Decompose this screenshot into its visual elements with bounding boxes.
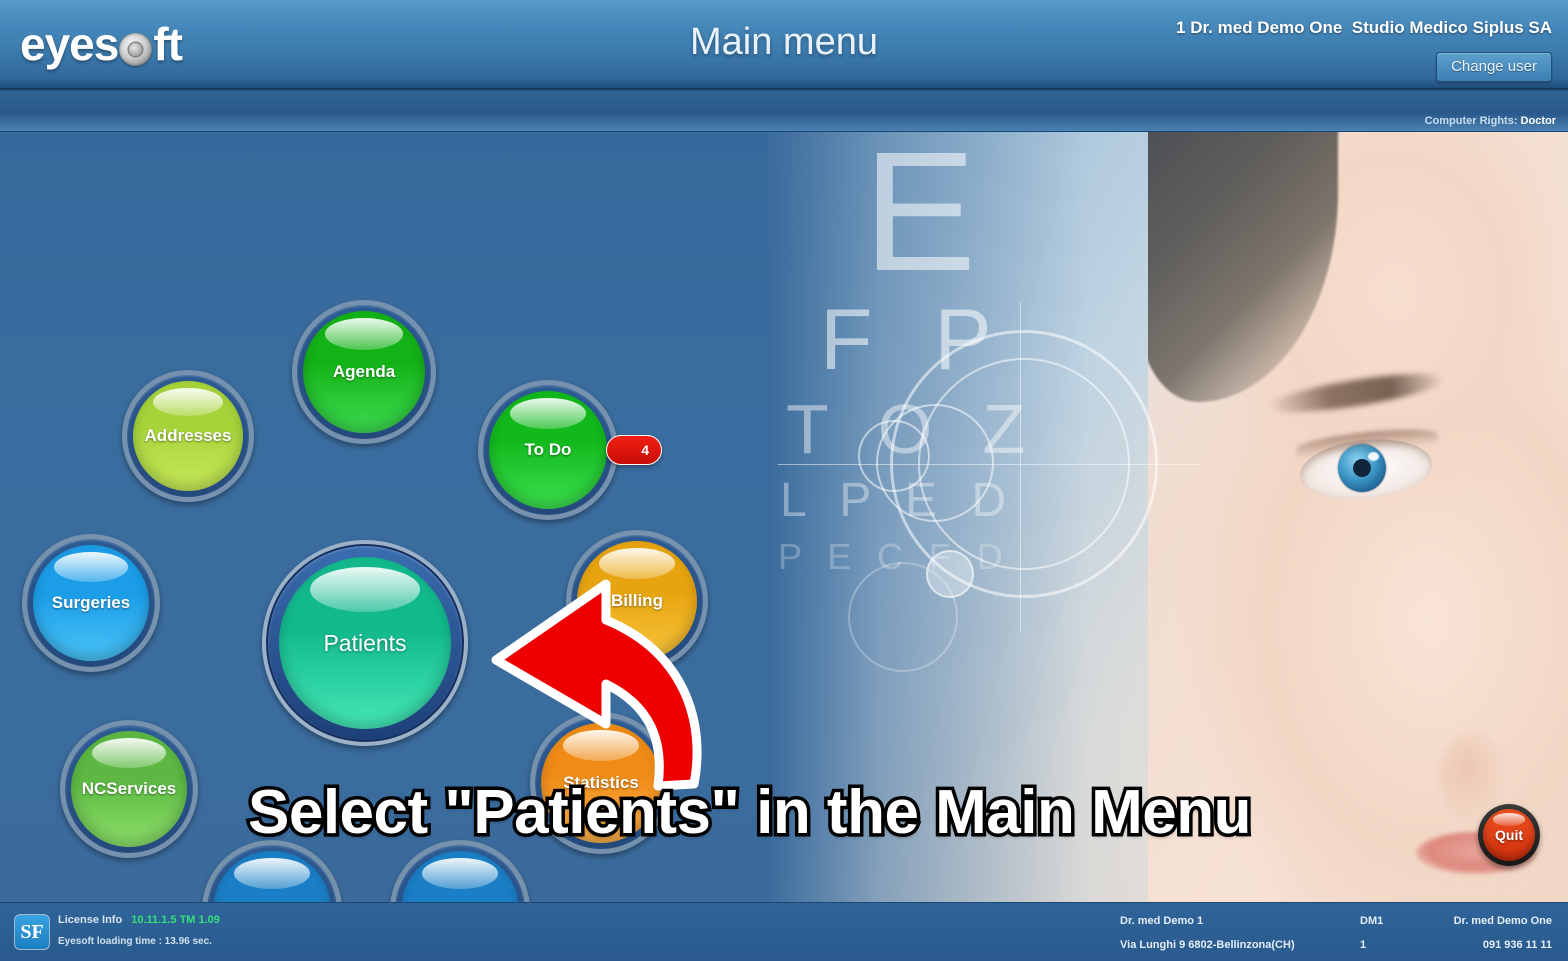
menu-button-label: Settings (238, 900, 305, 902)
license-label: License Info (58, 914, 122, 926)
menu-button-face: Patients (279, 557, 451, 729)
eye-chart-letters: P E C F D (778, 532, 1011, 582)
eyesoft-main-menu-screen: eyes ft Main menu 1 Dr. med Demo One Stu… (0, 0, 1568, 961)
menu-button-ring: Addresses (127, 375, 249, 497)
menu-button-ring: Settings (207, 845, 337, 902)
eye-chart-letters: E (863, 132, 1014, 292)
menu-button-label: Patients (323, 630, 406, 657)
menu-button-ring: To Do (483, 385, 613, 515)
footer-user-name: Dr. med Demo One (1454, 915, 1552, 927)
menu-button-addresses[interactable]: Addresses (122, 370, 254, 502)
loading-time-label: Eyesoft loading time : 13.96 sec. (58, 936, 212, 947)
menu-button-label: Addresses (145, 426, 232, 446)
menu-button-face: Settings (213, 851, 331, 902)
menu-button-label: Surgeries (52, 593, 130, 613)
change-user-button[interactable]: Change user (1436, 52, 1552, 82)
menu-button-face: Preferences (401, 851, 519, 902)
menu-button-label: Agenda (333, 362, 395, 382)
menu-button-agenda[interactable]: Agenda (292, 300, 436, 444)
main-content: EF P1T O Z2L P E D3P E C F D4 AddressesA… (0, 132, 1568, 902)
annotation-arrow-icon (478, 572, 718, 802)
menu-button-ring: Patients (266, 544, 464, 742)
menu-button-ring: Agenda (297, 305, 431, 439)
license-version: 10.11.1.5 TM 1.09 (131, 914, 220, 926)
menu-button-patients[interactable]: Patients (262, 540, 468, 746)
menu-button-ring: Surgeries (27, 539, 155, 667)
computer-rights-value: Doctor (1521, 115, 1556, 127)
menu-button-face: To Do (489, 391, 607, 509)
footer-code: DM1 (1360, 915, 1383, 927)
footer-address: Via Lunghi 9 6802-Bellinzona(CH) (1120, 939, 1295, 951)
face-eye-glint (1368, 452, 1379, 461)
menu-button-settings[interactable]: Settings (202, 840, 342, 902)
current-user-label: 1 Dr. med Demo One Studio Medico Siplus … (1176, 18, 1552, 38)
app-header: eyes ft Main menu 1 Dr. med Demo One Stu… (0, 0, 1568, 90)
instruction-callout: Select "Patients" in the Main Menu (0, 777, 1500, 848)
menu-button-label: Preferences (411, 900, 508, 902)
menu-button-surgeries[interactable]: Surgeries (22, 534, 160, 672)
menu-button-label: To Do (525, 440, 572, 460)
secondary-bar: Computer Rights: Doctor (0, 92, 1568, 132)
license-info: License Info 10.11.1.5 TM 1.09 (58, 914, 220, 926)
footer-doctor-name: Dr. med Demo 1 (1120, 915, 1203, 927)
face-pupil (1353, 459, 1371, 477)
menu-button-face: Surgeries (33, 545, 149, 661)
menu-button-badge: 4 (606, 435, 662, 465)
footer-phone: 091 936 11 11 (1483, 939, 1552, 951)
computer-rights-label: Computer Rights: (1425, 115, 1518, 127)
eye-chart-letters: L P E D (780, 470, 1017, 532)
eye-chart-letters: F P (820, 292, 1011, 388)
menu-button-todo[interactable]: To Do4 (478, 380, 618, 520)
menu-button-face: Addresses (133, 381, 243, 491)
menu-button-ring: Preferences (395, 845, 525, 902)
menu-button-preferences[interactable]: Preferences (390, 840, 530, 902)
status-footer: SF License Info 10.11.1.5 TM 1.09 Eyesof… (0, 902, 1568, 961)
siplus-app-icon: SF (14, 914, 50, 950)
computer-rights-status: Computer Rights: Doctor (1425, 115, 1556, 127)
footer-code-number: 1 (1360, 939, 1366, 951)
eye-chart-letters: T O Z (786, 388, 1041, 470)
menu-button-face: Agenda (303, 311, 425, 433)
